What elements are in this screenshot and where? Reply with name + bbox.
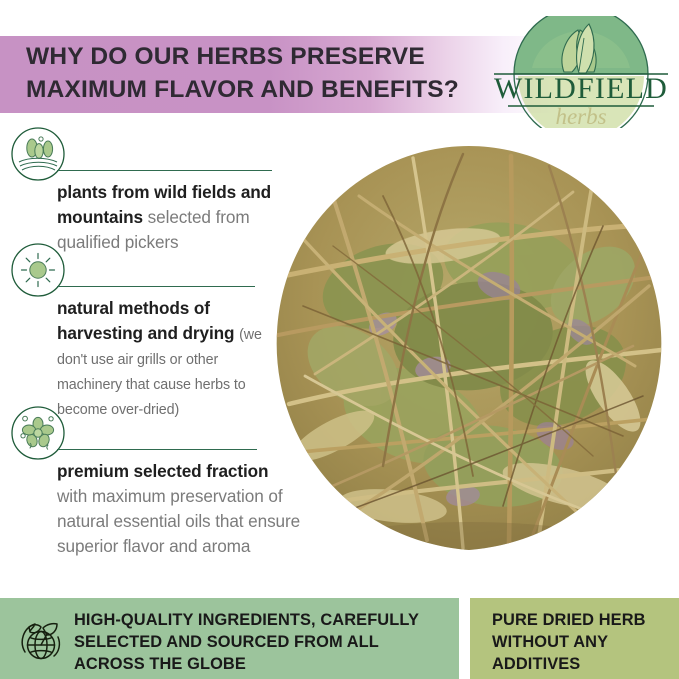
page-title-line-1: WHY DO OUR HERBS PRESERVE: [26, 40, 496, 73]
herb-product-photo: [263, 136, 675, 564]
claim-line-1: PURE DRIED HERB: [492, 609, 677, 631]
sun-icon: [10, 242, 66, 298]
claim-line-1: HIGH-QUALITY INGREDIENTS, CAREFULLY: [74, 609, 454, 631]
claim-bar-pure: PURE DRIED HERB WITHOUT ANY ADDITIVES: [470, 598, 679, 679]
feature-rule: [57, 449, 257, 450]
claim-line-2: SELECTED AND SOURCED FROM ALL: [74, 631, 454, 653]
claim-line-2: WITHOUT ANY: [492, 631, 677, 653]
page-title-line-2: MAXIMUM FLAVOR AND BENEFITS?: [26, 73, 496, 106]
claim-line-3: ADDITIVES: [492, 653, 677, 675]
bottom-claim-bars: HIGH-QUALITY INGREDIENTS, CAREFULLY SELE…: [0, 598, 679, 679]
field-plants-icon: [10, 126, 66, 182]
brand-logo: WILDFIELD herbs: [492, 16, 670, 128]
globe-leaf-icon: [17, 614, 67, 664]
logo-brand-text: WILDFIELD: [494, 72, 668, 105]
feature-rule: [57, 286, 255, 287]
feature-text: natural methods of harvesting and drying…: [57, 296, 287, 421]
flower-icon: [10, 405, 66, 461]
feature-lead: natural methods of harvesting and drying: [57, 298, 234, 343]
claim-bar-text: HIGH-QUALITY INGREDIENTS, CAREFULLY SELE…: [74, 609, 454, 675]
feature-rule: [57, 170, 272, 171]
claim-bar-text: PURE DRIED HERB WITHOUT ANY ADDITIVES: [492, 609, 677, 675]
feature-lead: premium selected fraction: [57, 461, 268, 481]
claim-bar-quality: HIGH-QUALITY INGREDIENTS, CAREFULLY SELE…: [0, 598, 459, 679]
logo-tagline-text: herbs: [555, 104, 606, 128]
claim-line-3: ACROSS THE GLOBE: [74, 653, 454, 675]
feature-text: plants from wild fields and mountains se…: [57, 180, 297, 255]
page-title: WHY DO OUR HERBS PRESERVE MAXIMUM FLAVOR…: [26, 40, 496, 106]
header: WHY DO OUR HERBS PRESERVE MAXIMUM FLAVOR…: [0, 0, 679, 130]
